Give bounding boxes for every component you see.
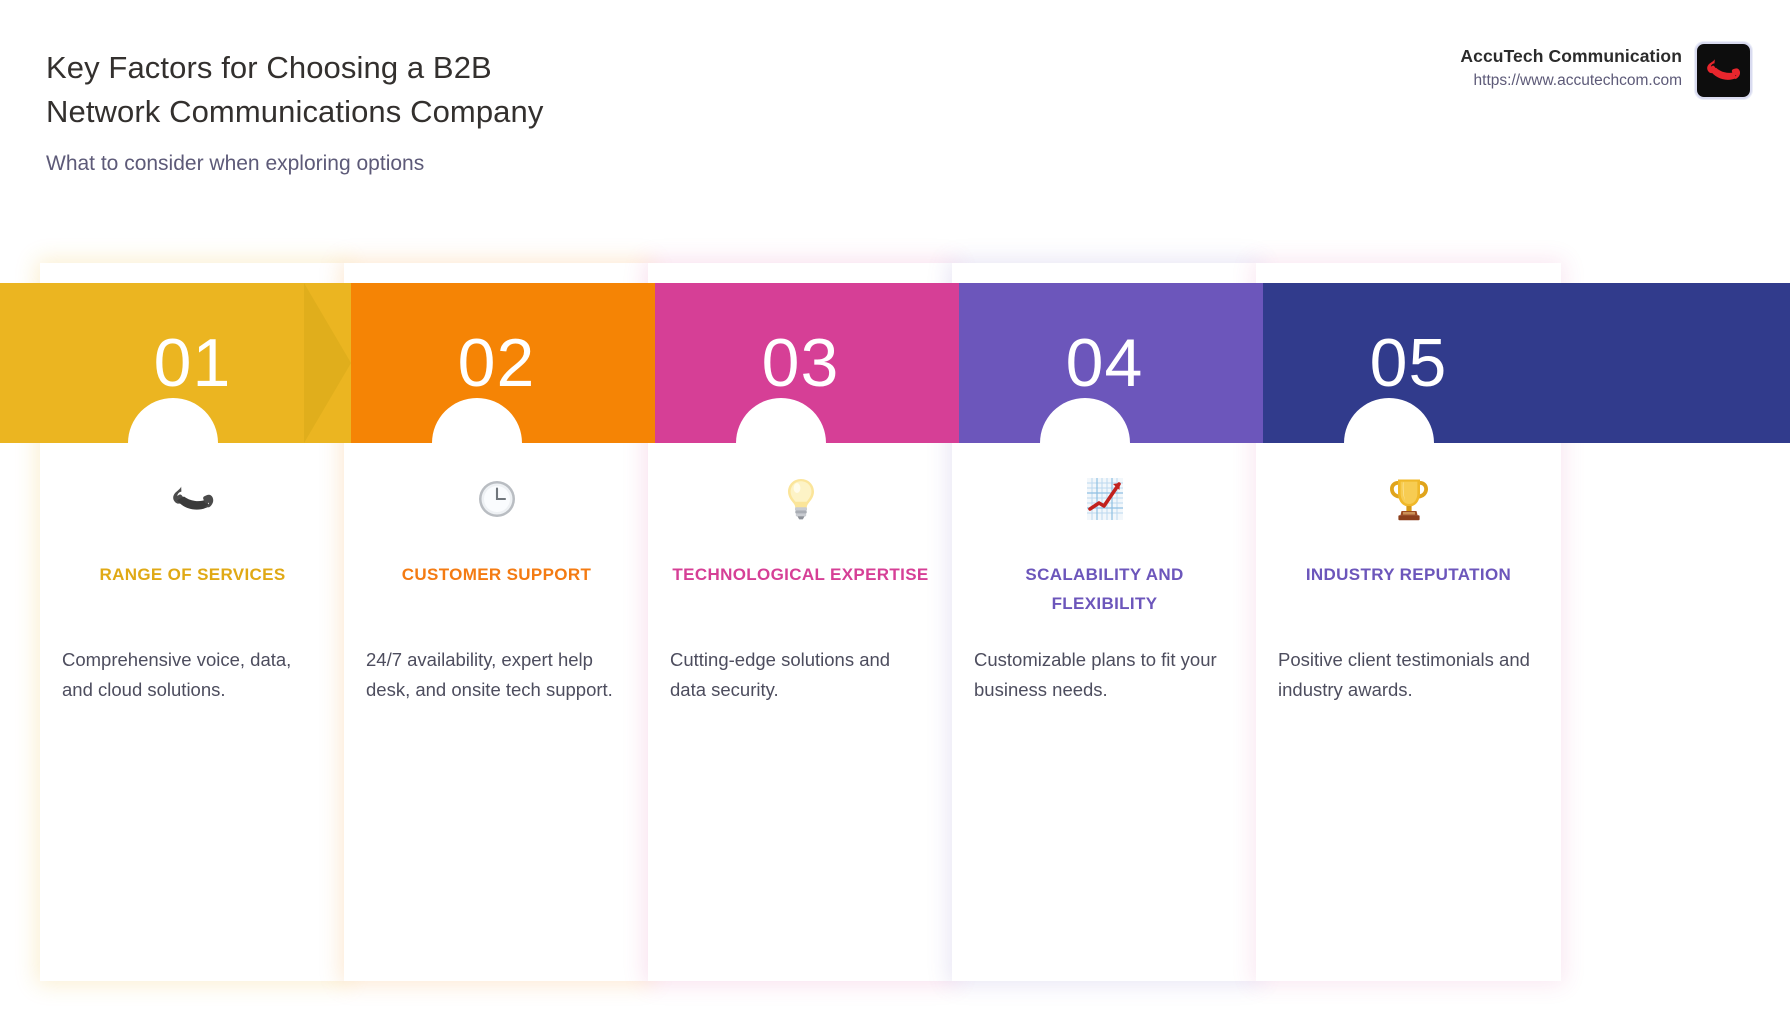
step-card-5-title: INDUSTRY REPUTATION — [1274, 560, 1543, 589]
clock-icon — [344, 471, 649, 527]
step-number-5: 05 — [1256, 283, 1561, 443]
step-card-3-title: TECHNOLOGICAL EXPERTISE — [666, 560, 935, 589]
brand-block[interactable]: AccuTech Communication https://www.accut… — [1460, 42, 1752, 99]
header: Key Factors for Choosing a B2B Network C… — [0, 0, 1790, 200]
step-number-3: 03 — [648, 283, 953, 443]
step-number-1: 01 — [40, 283, 345, 443]
brand-url[interactable]: https://www.accutechcom.com — [1460, 72, 1682, 90]
step-card-4-title: SCALABILITY AND FLEXIBILITY — [970, 560, 1239, 618]
light-bulb-icon — [648, 471, 953, 527]
page-title: Key Factors for Choosing a B2B Network C… — [46, 46, 543, 134]
chart-increasing-icon — [952, 471, 1257, 527]
brand-name: AccuTech Communication — [1460, 46, 1682, 67]
page-subtitle: What to consider when exploring options — [46, 151, 543, 177]
telephone-receiver-icon — [40, 471, 345, 527]
step-number-4: 04 — [952, 283, 1257, 443]
step-card-4-description: Customizable plans to fit your business … — [974, 645, 1235, 705]
step-card-1-description: Comprehensive voice, data, and cloud sol… — [62, 645, 323, 705]
brand-text: AccuTech Communication https://www.accut… — [1460, 42, 1682, 90]
step-card-1-title: RANGE OF SERVICES — [58, 560, 327, 589]
step-number-2: 02 — [344, 283, 649, 443]
page-title-line-1: Key Factors for Choosing a B2B — [46, 50, 492, 85]
step-card-2-title: CUSTOMER SUPPORT — [362, 560, 631, 589]
infographic-page: Key Factors for Choosing a B2B Network C… — [0, 0, 1790, 1024]
step-card-5-description: Positive client testimonials and industr… — [1278, 645, 1539, 705]
step-card-2-description: 24/7 availability, expert help desk, and… — [366, 645, 627, 705]
step-card-3-description: Cutting-edge solutions and data security… — [670, 645, 931, 705]
page-title-line-2: Network Communications Company — [46, 94, 543, 129]
telephone-handset-icon — [1695, 42, 1752, 99]
trophy-icon — [1256, 471, 1561, 527]
title-block: Key Factors for Choosing a B2B Network C… — [46, 46, 543, 177]
